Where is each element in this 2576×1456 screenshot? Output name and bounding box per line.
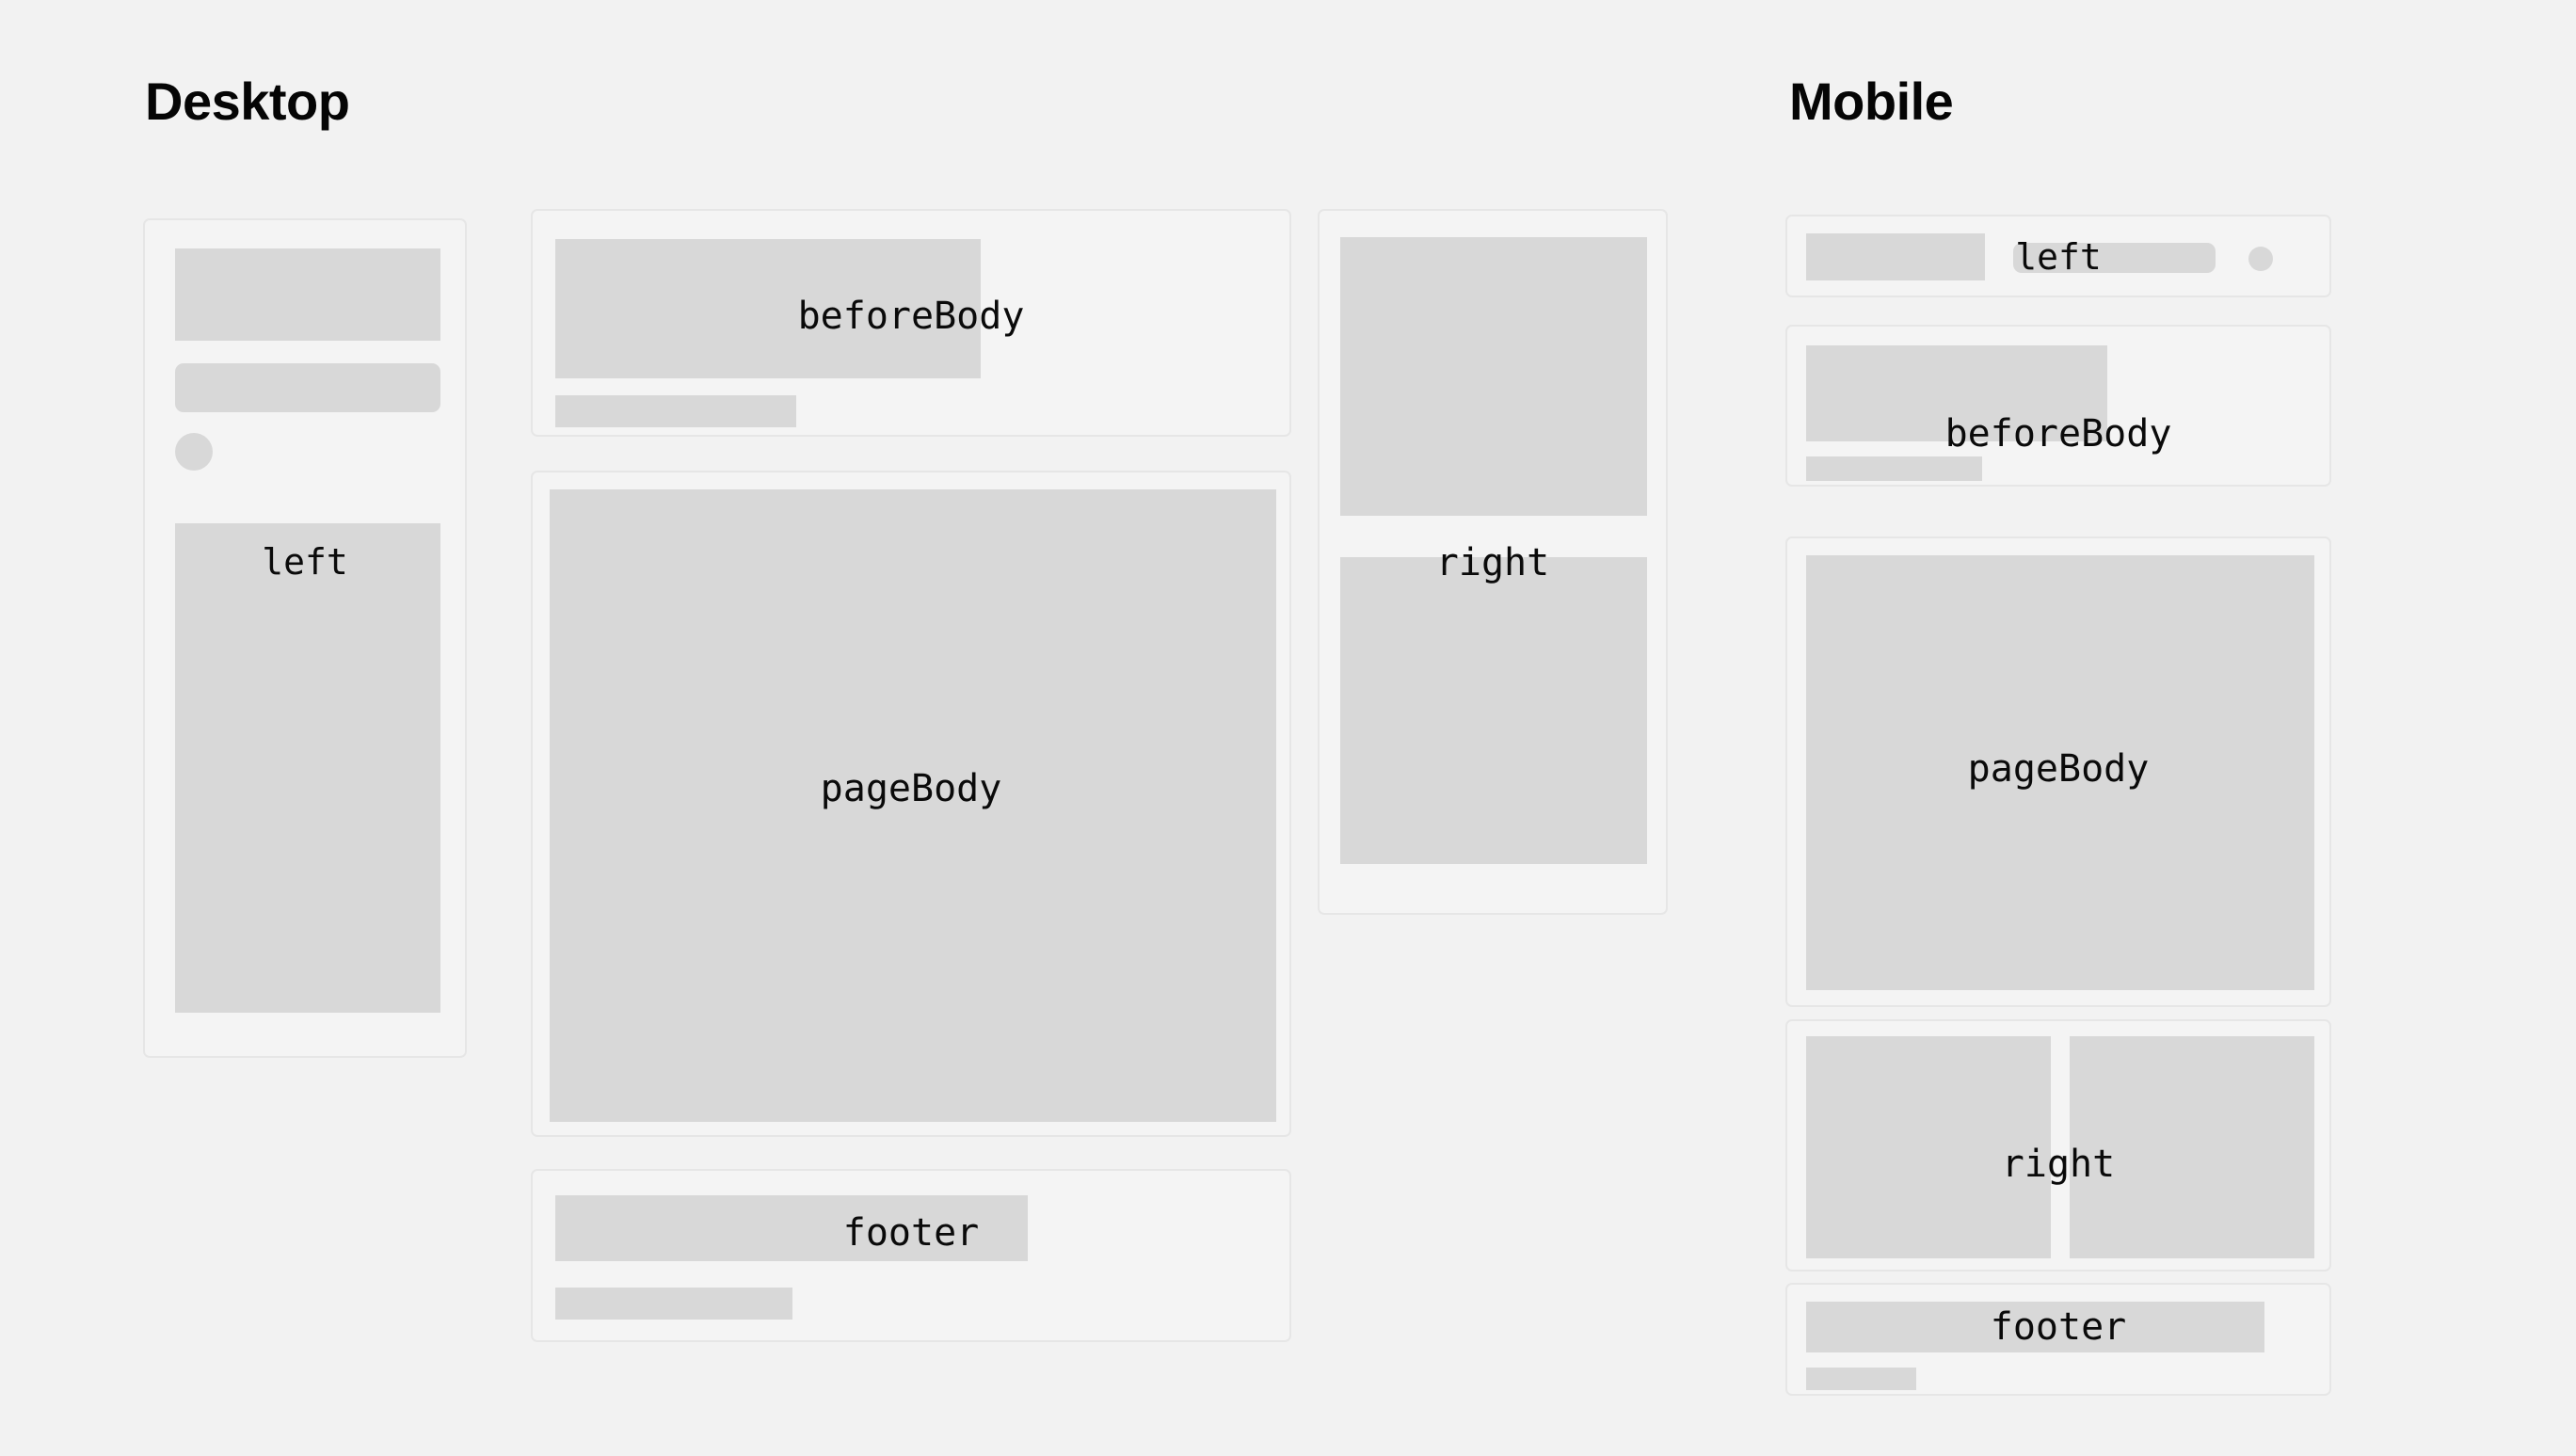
mobile-slot-left-panel[interactable] — [1785, 215, 2331, 297]
placeholder-block — [1806, 456, 1982, 481]
desktop-slot-footer-panel[interactable] — [531, 1169, 1291, 1342]
mobile-slot-pagebody-panel[interactable] — [1785, 536, 2331, 1007]
placeholder-avatar-circle — [2248, 247, 2273, 271]
mobile-section-title: Mobile — [1789, 75, 1953, 128]
mobile-slot-footer-panel[interactable] — [1785, 1283, 2331, 1396]
placeholder-avatar-circle — [175, 433, 213, 471]
placeholder-block — [1806, 345, 2107, 441]
desktop-slot-pagebody-panel[interactable] — [531, 471, 1291, 1137]
placeholder-block — [1806, 1368, 1916, 1390]
placeholder-block — [2070, 1036, 2314, 1258]
placeholder-pill — [2013, 243, 2216, 273]
placeholder-block — [555, 395, 796, 427]
placeholder-block — [1806, 233, 1985, 280]
placeholder-block — [550, 489, 1276, 1122]
placeholder-block — [175, 523, 440, 1013]
wireframe-canvas: Desktop Mobile left beforeBody pageBody … — [0, 0, 2576, 1456]
placeholder-block — [1806, 555, 2314, 990]
mobile-slot-beforebody-panel[interactable] — [1785, 325, 2331, 487]
placeholder-block — [555, 1195, 1028, 1261]
placeholder-block — [555, 1288, 792, 1320]
placeholder-block — [175, 248, 440, 341]
placeholder-block — [1340, 557, 1647, 864]
placeholder-block — [555, 239, 981, 378]
placeholder-block — [1806, 1036, 2051, 1258]
placeholder-block — [1340, 237, 1647, 516]
desktop-slot-right-panel[interactable] — [1318, 209, 1668, 915]
placeholder-pill — [175, 363, 440, 412]
desktop-slot-left-panel[interactable] — [143, 218, 467, 1058]
desktop-section-title: Desktop — [145, 75, 349, 128]
placeholder-block — [1806, 1302, 2264, 1352]
desktop-slot-beforebody-panel[interactable] — [531, 209, 1291, 437]
mobile-slot-right-panel[interactable] — [1785, 1019, 2331, 1272]
